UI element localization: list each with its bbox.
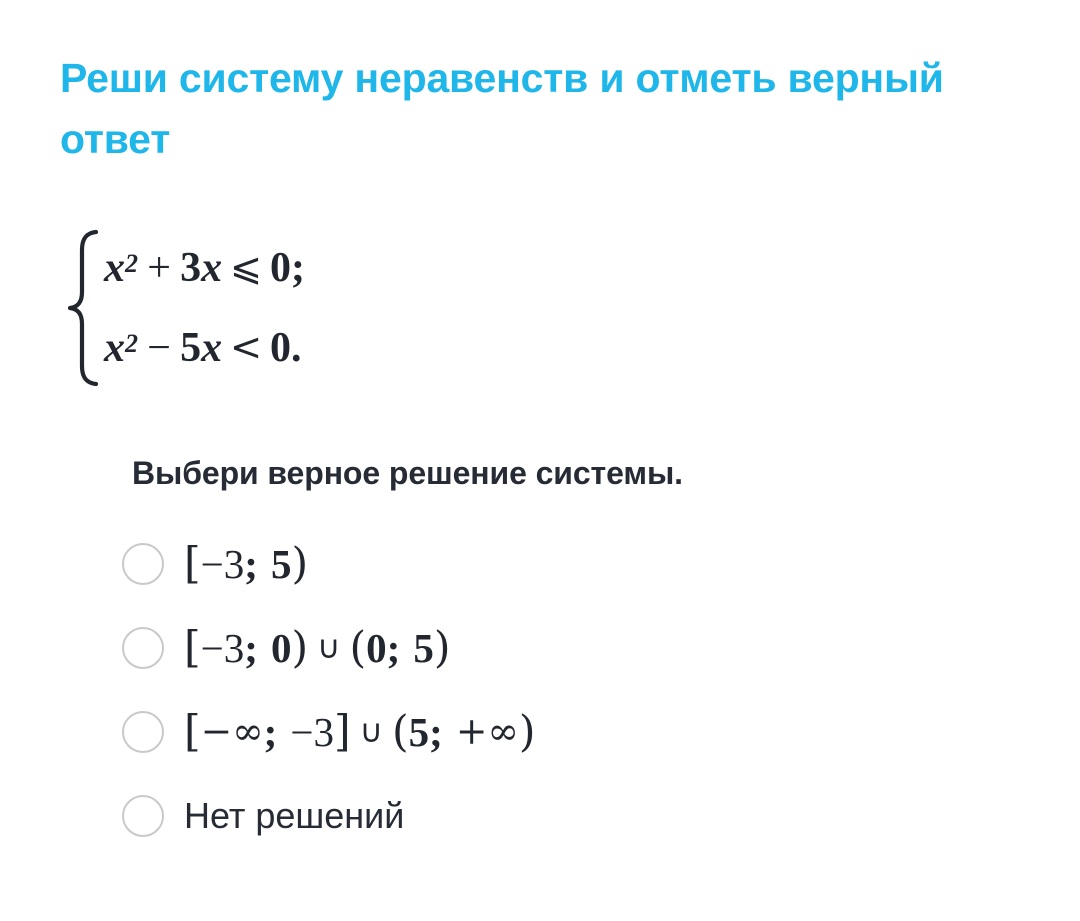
interval-2-start: 0	[366, 628, 387, 669]
radio-button-option-1[interactable]	[122, 543, 164, 585]
answer-option-2[interactable]: [−3;0)∪(0;5)	[122, 606, 1002, 690]
equation-list: x2+3x⩽0; x2−5x<0.	[104, 228, 305, 388]
interval-1-start: −3	[201, 628, 245, 669]
relation-lt: <	[222, 329, 270, 368]
answer-option-1-label: [−3;5)	[184, 544, 308, 585]
coefficient-5: 5	[180, 327, 201, 369]
answer-option-1[interactable]: [−3;5)	[122, 522, 1002, 606]
rhs-zero: 0	[270, 247, 291, 289]
curly-brace-icon	[66, 228, 100, 388]
bracket-close-1: )	[292, 629, 309, 667]
radio-button-option-3[interactable]	[122, 711, 164, 753]
interval-2-end: 5	[413, 628, 434, 669]
variable-x: x	[104, 247, 125, 289]
negative-infinity: −∞	[201, 713, 264, 751]
interval-2-separator: ;	[429, 712, 449, 753]
period: .	[291, 327, 302, 369]
positive-infinity: +∞	[456, 713, 519, 751]
variable-x-2: x	[201, 327, 222, 369]
bracket-close: )	[292, 545, 309, 583]
interval-1-separator: ;	[244, 628, 264, 669]
answer-option-4-label: Нет решений	[184, 798, 404, 834]
task-page: Реши систему неравенств и отметь верный …	[0, 0, 1080, 921]
variable-x-2: x	[201, 247, 222, 289]
radio-button-option-4[interactable]	[122, 795, 164, 837]
interval-1-end: 0	[271, 628, 292, 669]
interval-end: 5	[271, 544, 292, 585]
union-symbol: ∪	[351, 715, 392, 747]
relation-leq: ⩽	[222, 249, 270, 288]
answer-option-3-label: [−∞;−3]∪(5;+∞)	[184, 712, 536, 753]
system-of-inequalities: x2+3x⩽0; x2−5x<0.	[66, 228, 305, 388]
answer-option-4[interactable]: Нет решений	[122, 774, 1002, 858]
bracket-open-2: (	[392, 713, 409, 751]
semicolon: ;	[291, 247, 305, 289]
union-symbol: ∪	[308, 631, 349, 663]
answer-option-3[interactable]: [−∞;−3]∪(5;+∞)	[122, 690, 1002, 774]
bracket-close-1: ]	[334, 713, 351, 751]
interval-2-separator: ;	[387, 628, 407, 669]
inequality-row-1: x2+3x⩽0;	[104, 228, 305, 308]
coefficient-3: 3	[180, 247, 201, 289]
bracket-open-1: [	[184, 713, 201, 751]
question-prompt: Выбери верное решение системы.	[132, 454, 683, 492]
page-title: Реши систему неравенств и отметь верный …	[60, 48, 1000, 169]
operator-minus: −	[138, 327, 180, 369]
bracket-close-2: )	[434, 629, 451, 667]
interval-1-end: −3	[290, 712, 334, 753]
radio-button-option-2[interactable]	[122, 627, 164, 669]
operator-plus: +	[138, 247, 180, 289]
bracket-open-2: (	[349, 629, 366, 667]
bracket-close-2: )	[519, 713, 536, 751]
answer-options-list: [−3;5) [−3;0)∪(0;5) [−∞;−3]∪(5;+∞) Нет р…	[122, 522, 1002, 858]
variable-x: x	[104, 327, 125, 369]
answer-option-2-label: [−3;0)∪(0;5)	[184, 628, 451, 669]
interval-separator: ;	[244, 544, 264, 585]
interval-start: −3	[201, 544, 245, 585]
bracket-open: [	[184, 545, 201, 583]
inequality-row-2: x2−5x<0.	[104, 308, 305, 388]
interval-1-separator: ;	[264, 712, 284, 753]
interval-2-start: 5	[409, 712, 430, 753]
bracket-open-1: [	[184, 629, 201, 667]
rhs-zero: 0	[270, 327, 291, 369]
